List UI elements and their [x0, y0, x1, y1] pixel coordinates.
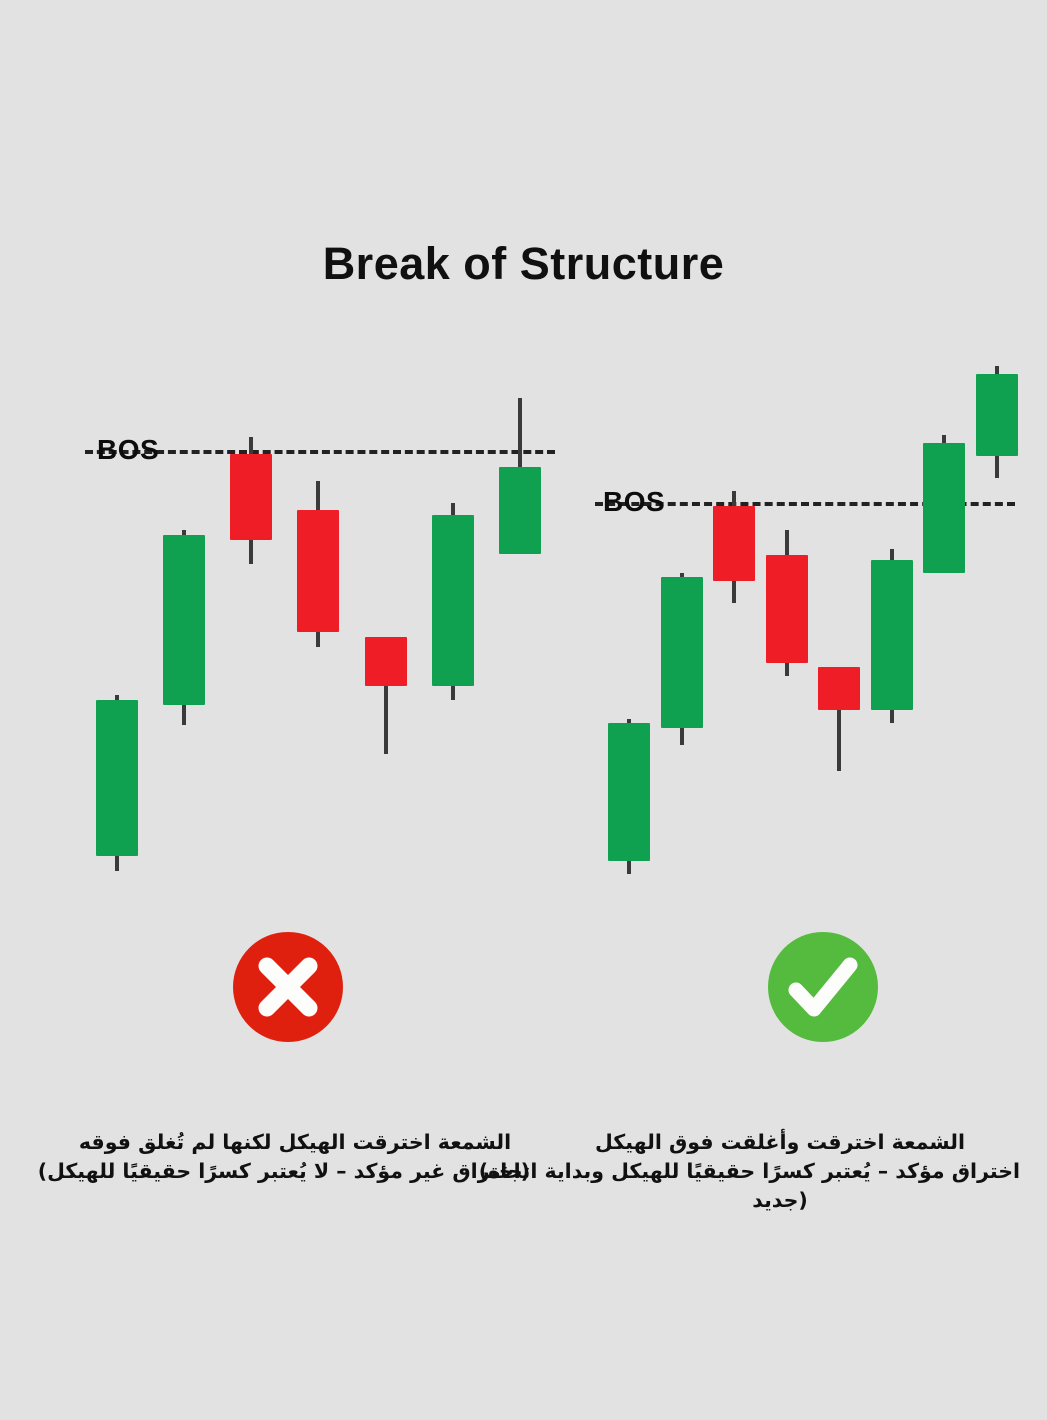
candle-body-up: [96, 700, 138, 856]
candle-body-up: [661, 577, 703, 728]
candlestick-3: [230, 340, 272, 900]
candlestick-6: [432, 340, 474, 900]
caption-left-line-1: الشمعة اخترقت الهيكل لكنها لم تُغلق فوقه: [60, 1128, 530, 1157]
cross-icon: [233, 932, 343, 1042]
candle-body-down: [766, 555, 808, 663]
candlestick-7: [499, 340, 541, 900]
candlestick-5: [818, 340, 860, 900]
candlestick-7: [923, 340, 965, 900]
page-title: Break of Structure: [0, 238, 1047, 290]
candlestick-8: [976, 340, 1018, 900]
candle-body-up: [608, 723, 650, 861]
candle-body-down: [230, 454, 272, 539]
chart-panel-valid-break: BOS: [595, 340, 1015, 900]
candle-body-up: [432, 515, 474, 685]
candle-body-down: [365, 637, 407, 686]
candlestick-1: [96, 340, 138, 900]
candlestick-5: [365, 340, 407, 900]
caption-right-line-2: اختراق مؤكد – يُعتبر كسرًا حقيقيًا للهيك…: [540, 1157, 1020, 1186]
caption-left-line-2: (اختراق غير مؤكد – لا يُعتبر كسرًا حقيقي…: [60, 1157, 530, 1186]
candle-body-up: [976, 374, 1018, 456]
candlestick-4: [766, 340, 808, 900]
candlestick-6: [871, 340, 913, 900]
candlestick-2: [661, 340, 703, 900]
infographic-canvas: Break of Structure BOS BOS الشمعة اخترقت…: [0, 0, 1047, 1420]
candle-body-up: [871, 560, 913, 711]
candle-body-up: [499, 467, 541, 555]
candlestick-3: [713, 340, 755, 900]
candlestick-1: [608, 340, 650, 900]
candle-body-down: [818, 667, 860, 710]
bos-label-right: BOS: [603, 486, 665, 518]
caption-valid-break: الشمعة اخترقت وأغلقت فوق الهيكل اختراق م…: [540, 1128, 1020, 1215]
candlestick-4: [297, 340, 339, 900]
candlestick-plot-right: [595, 340, 1015, 900]
chart-panel-invalid-break: BOS: [85, 340, 555, 900]
bos-label-left: BOS: [97, 434, 159, 466]
candle-body-up: [923, 443, 965, 572]
candle-body-down: [713, 506, 755, 581]
caption-right-line-3: (جديد: [540, 1186, 1020, 1215]
candlestick-plot-left: [85, 340, 555, 900]
candle-body-up: [163, 535, 205, 705]
candle-body-down: [297, 510, 339, 632]
caption-invalid-break: الشمعة اخترقت الهيكل لكنها لم تُغلق فوقه…: [60, 1128, 530, 1186]
caption-right-line-1: الشمعة اخترقت وأغلقت فوق الهيكل: [540, 1128, 1020, 1157]
candlestick-2: [163, 340, 205, 900]
check-icon: [768, 932, 878, 1042]
